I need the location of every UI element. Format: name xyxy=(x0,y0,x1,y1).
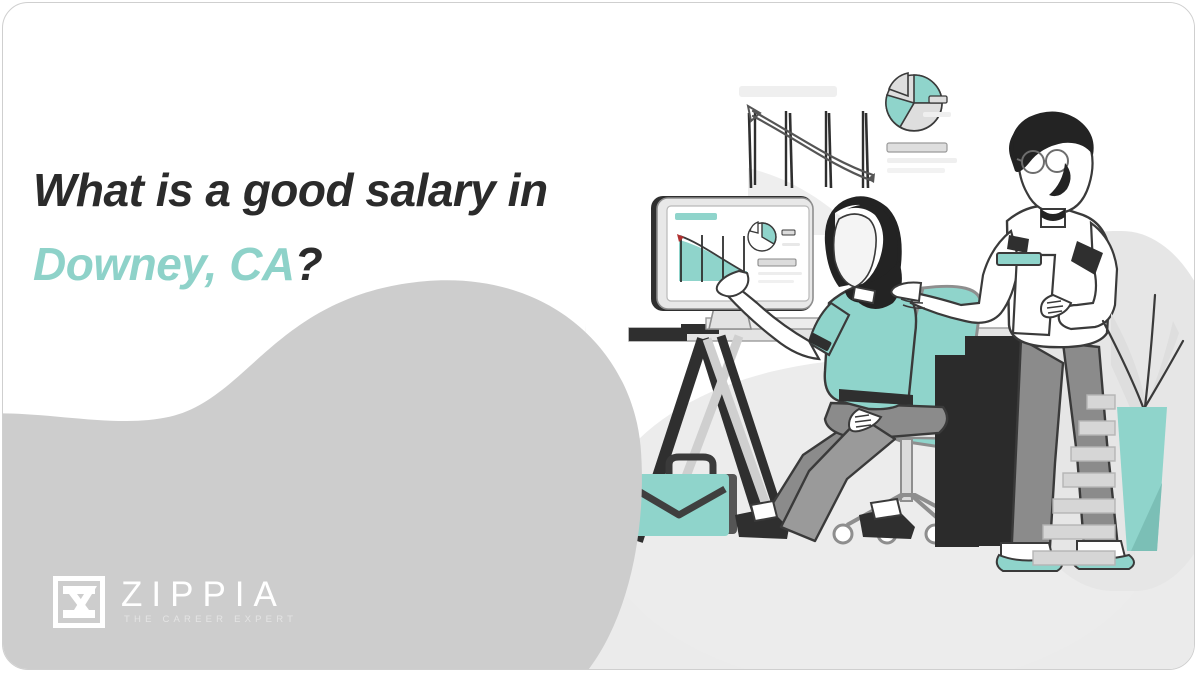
headline-part-1: What is a good salary in xyxy=(33,164,548,216)
brand-tagline: THE CAREER EXPERT xyxy=(121,613,297,627)
bottom-left-gray-blob xyxy=(3,3,1195,670)
brand-name: ZIPPIA xyxy=(121,577,297,613)
promo-card: What is a good salary in Downey, CA? ZIP… xyxy=(2,2,1195,670)
headline-question-mark: ? xyxy=(295,238,323,290)
screenshot-canvas: What is a good salary in Downey, CA? ZIP… xyxy=(0,0,1201,676)
zippia-z-logomark xyxy=(53,576,105,628)
zippia-logo[interactable]: ZIPPIA THE CAREER EXPERT xyxy=(53,576,297,628)
page-title: What is a good salary in Downey, CA? xyxy=(33,153,553,301)
headline-location-highlight: Downey, CA xyxy=(33,238,295,290)
